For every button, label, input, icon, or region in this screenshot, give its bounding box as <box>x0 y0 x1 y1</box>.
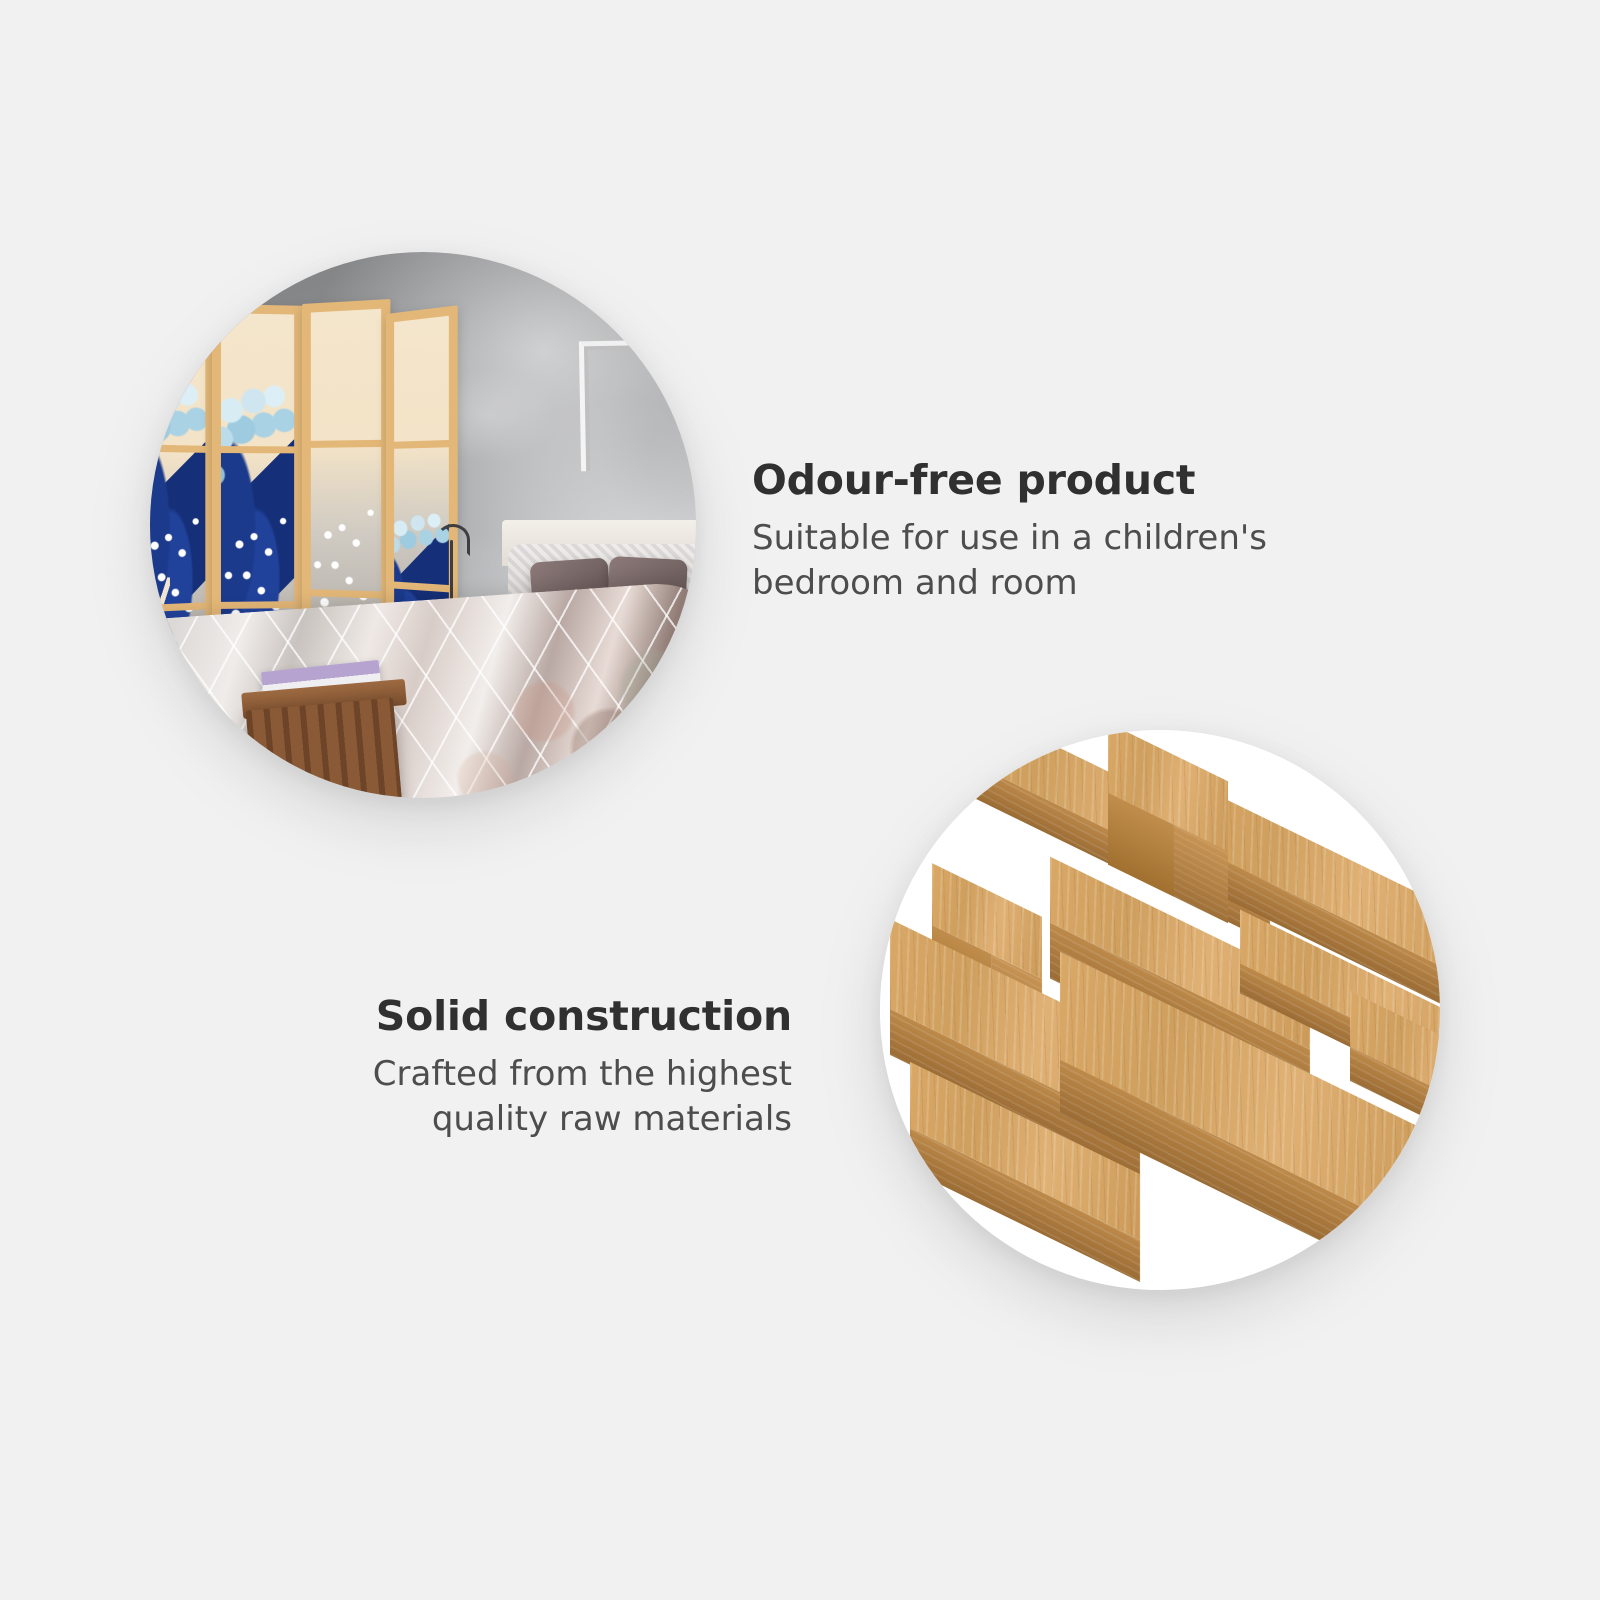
feature-text-odour-free: Odour-free product Suitable for use in a… <box>752 456 1272 605</box>
wood-beams-image-circle <box>880 730 1440 1290</box>
wood-beams-photo <box>880 730 1440 1290</box>
feature-description: Crafted from the highest quality raw mat… <box>252 1052 792 1140</box>
bedroom-photo <box>150 252 696 798</box>
wooden-chest <box>246 698 403 798</box>
bedroom-image-circle <box>150 252 696 798</box>
picture-frame <box>579 339 696 472</box>
feature-text-solid-construction: Solid construction Crafted from the high… <box>252 992 792 1141</box>
infographic-canvas: Odour-free product Suitable for use in a… <box>0 0 1600 1600</box>
reading-lamp <box>450 540 453 606</box>
feature-description: Suitable for use in a children's bedroom… <box>752 516 1272 604</box>
feature-title: Solid construction <box>252 992 792 1040</box>
feature-title: Odour-free product <box>752 456 1272 504</box>
